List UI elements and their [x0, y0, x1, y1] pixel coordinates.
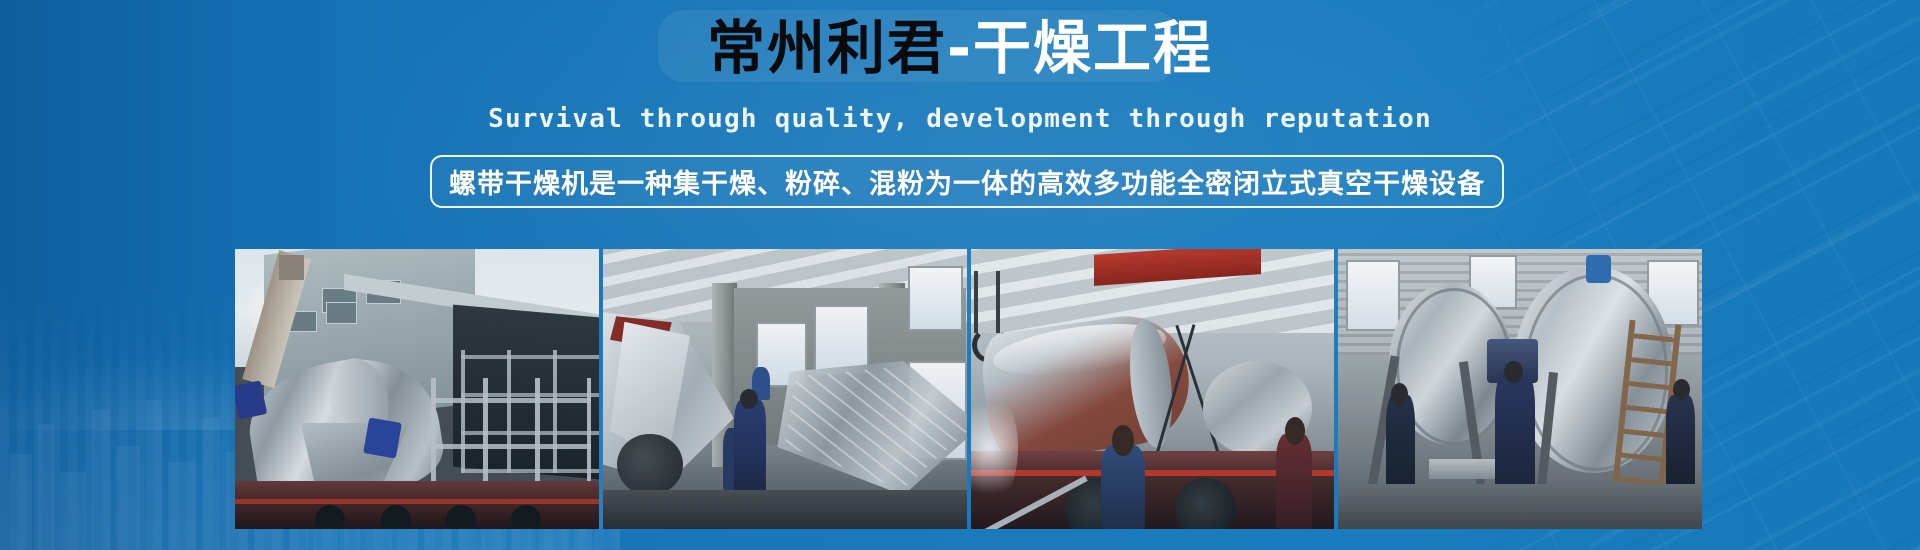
photo-stainless-vessels[interactable]: [1338, 249, 1702, 529]
workshop-floor: [603, 490, 967, 529]
worker-head: [1673, 379, 1690, 400]
title-company-name: 常州利君: [707, 14, 947, 82]
beam-cap: [279, 255, 304, 280]
photo-vessel-hoisting[interactable]: [971, 249, 1335, 529]
worker-head: [1504, 361, 1523, 383]
flatbed-truck: [235, 481, 599, 529]
worker-front: [1101, 445, 1145, 529]
workshop-floor: [1338, 484, 1702, 529]
truck-reflective-stripe: [235, 499, 599, 504]
product-description-box: 螺带干燥机是一种集干燥、粉碎、混粉为一体的高效多功能全密闭立式真空干燥设备: [430, 155, 1504, 208]
worker-head: [740, 389, 758, 409]
worker-right: [1666, 395, 1695, 496]
building-window: [326, 302, 357, 324]
workshop-window: [1346, 260, 1401, 331]
photo-workshop-cones[interactable]: [603, 249, 967, 529]
product-photo-strip: [235, 249, 1702, 529]
blue-motor: [363, 417, 402, 459]
worker-head: [1391, 383, 1408, 405]
photo-dryer-on-truck[interactable]: [235, 249, 599, 529]
page-title: 常州利君-干燥工程: [0, 14, 1920, 82]
steel-shipping-rack: [431, 378, 591, 496]
title-business-scope: -干燥工程: [947, 14, 1213, 82]
workshop-window: [908, 266, 963, 332]
blue-gearbox: [235, 381, 267, 420]
blue-drive-motor: [1586, 255, 1611, 283]
worker-right: [1276, 434, 1312, 529]
english-slogan: Survival through quality, development th…: [0, 104, 1920, 134]
product-description-text: 螺带干燥机是一种集干燥、粉碎、混粉为一体的高效多功能全密闭立式真空干燥设备: [449, 162, 1485, 201]
truck-wheel: [381, 505, 411, 529]
crane-cable: [974, 271, 1000, 333]
company-banner: 常州利君-干燥工程 Survival through quality, deve…: [0, 0, 1920, 550]
vessel-hub-flange: [617, 434, 682, 496]
